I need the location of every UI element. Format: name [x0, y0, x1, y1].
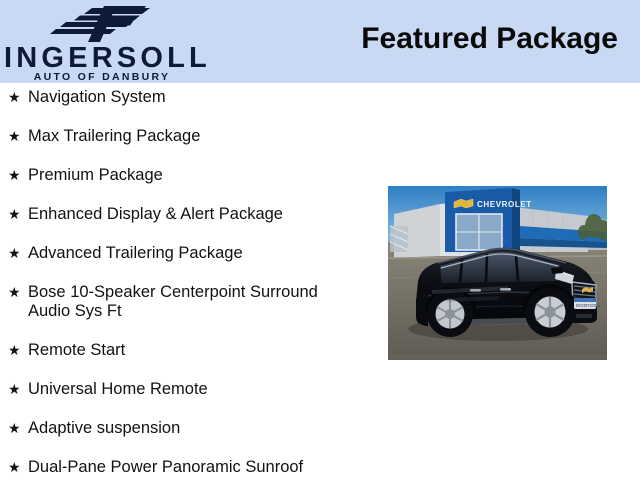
page-title: Featured Package	[361, 24, 618, 54]
brand-logo: INGERSOLL AUTO OF DANBURY	[4, 2, 200, 82]
star-bullet-icon: ★	[8, 380, 21, 399]
brand-name: INGERSOLL	[4, 44, 200, 73]
feature-label: Dual-Pane Power Panoramic Sunroof	[28, 458, 328, 477]
feature-label: Bose 10-Speaker Centerpoint Surround Aud…	[28, 283, 328, 321]
feature-label: Navigation System	[28, 88, 328, 107]
star-bullet-icon: ★	[8, 166, 21, 185]
feature-list-item: ★Premium Package	[0, 166, 380, 185]
svg-text:CHEVROLET: CHEVROLET	[477, 200, 532, 209]
feature-list-item: ★Bose 10-Speaker Centerpoint Surround Au…	[0, 283, 380, 321]
page-header: INGERSOLL AUTO OF DANBURY Featured Packa…	[0, 0, 640, 83]
star-bullet-icon: ★	[8, 341, 21, 360]
star-bullet-icon: ★	[8, 88, 21, 107]
star-bullet-icon: ★	[8, 283, 21, 302]
feature-list-item: ★Dual-Pane Power Panoramic Sunroof	[0, 458, 380, 477]
star-bullet-icon: ★	[8, 419, 21, 438]
svg-text:INGERSOLL: INGERSOLL	[576, 303, 601, 308]
feature-label: Remote Start	[28, 341, 328, 360]
feature-label: Adaptive suspension	[28, 419, 328, 438]
star-bullet-icon: ★	[8, 127, 21, 146]
feature-list-item: ★Enhanced Display & Alert Package	[0, 205, 380, 224]
brand-tagline: AUTO OF DANBURY	[4, 72, 200, 83]
feature-list-item: ★Remote Start	[0, 341, 380, 360]
star-bullet-icon: ★	[8, 244, 21, 263]
feature-list-item: ★Navigation System	[0, 88, 380, 107]
feature-list-item: ★Advanced Trailering Package	[0, 244, 380, 263]
feature-list-item: ★Adaptive suspension	[0, 419, 380, 438]
feature-label: Enhanced Display & Alert Package	[28, 205, 328, 224]
vehicle-photo: CHEVROLET	[388, 186, 607, 360]
feature-label: Advanced Trailering Package	[28, 244, 328, 263]
star-bullet-icon: ★	[8, 458, 21, 477]
star-bullet-icon: ★	[8, 205, 21, 224]
feature-label: Premium Package	[28, 166, 328, 185]
feature-list-item: ★Max Trailering Package	[0, 127, 380, 146]
feature-list-item: ★Universal Home Remote	[0, 380, 380, 399]
feature-label: Universal Home Remote	[28, 380, 328, 399]
feature-list: ★Navigation System★Max Trailering Packag…	[0, 88, 380, 497]
feature-label: Max Trailering Package	[28, 127, 328, 146]
ingersoll-winged-monogram-icon	[46, 4, 162, 44]
